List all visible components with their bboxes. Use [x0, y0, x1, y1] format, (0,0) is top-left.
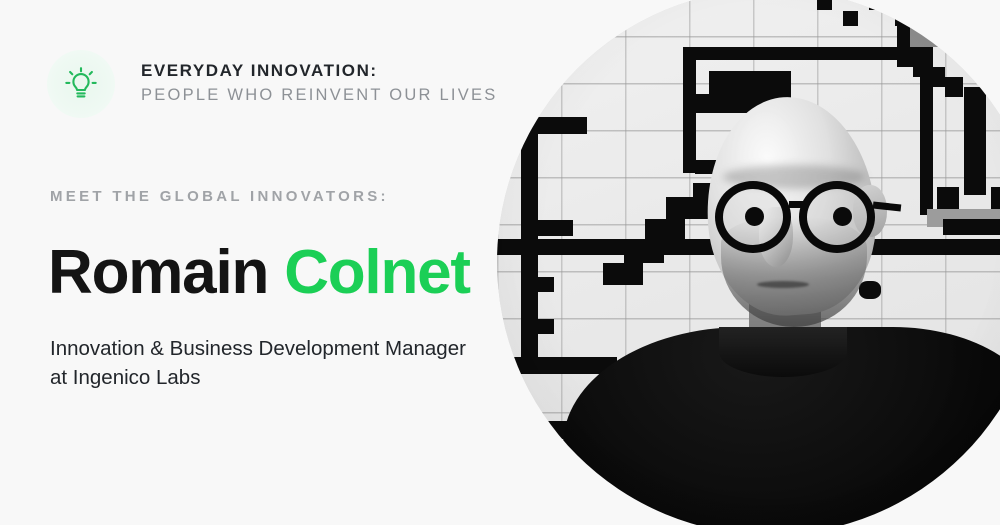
page-title: Romain Colnet: [48, 240, 470, 305]
first-name: Romain: [48, 238, 268, 307]
role-text: Innovation & Business Development Manage…: [50, 334, 480, 392]
right-eye: [833, 207, 852, 226]
last-name: Colnet: [284, 238, 470, 307]
tshirt-collar: [719, 327, 847, 377]
promo-card: EVERYDAY INNOVATION: PEOPLE WHO REINVENT…: [0, 0, 1000, 525]
person-figure: [497, 0, 1000, 525]
eyeglasses-bridge: [789, 201, 805, 208]
brand-title: EVERYDAY INNOVATION:: [141, 59, 498, 83]
name-separator: [268, 238, 284, 307]
portrait-photo: [497, 0, 1000, 525]
eyebrow-label: MEET THE GLOBAL INNOVATORS:: [50, 188, 389, 205]
role-line-2: at Ingenico Labs: [50, 363, 480, 392]
mouth: [757, 281, 809, 288]
lightbulb-badge: [47, 50, 115, 118]
portrait-circle: [497, 0, 1000, 525]
lightbulb-icon: [62, 65, 100, 103]
role-line-1: Innovation & Business Development Manage…: [50, 334, 480, 363]
left-eye: [745, 207, 764, 226]
brand-bar: EVERYDAY INNOVATION: PEOPLE WHO REINVENT…: [47, 50, 498, 118]
brand-text: EVERYDAY INNOVATION: PEOPLE WHO REINVENT…: [141, 59, 498, 110]
brand-subtitle: PEOPLE WHO REINVENT OUR LIVES: [141, 83, 498, 108]
